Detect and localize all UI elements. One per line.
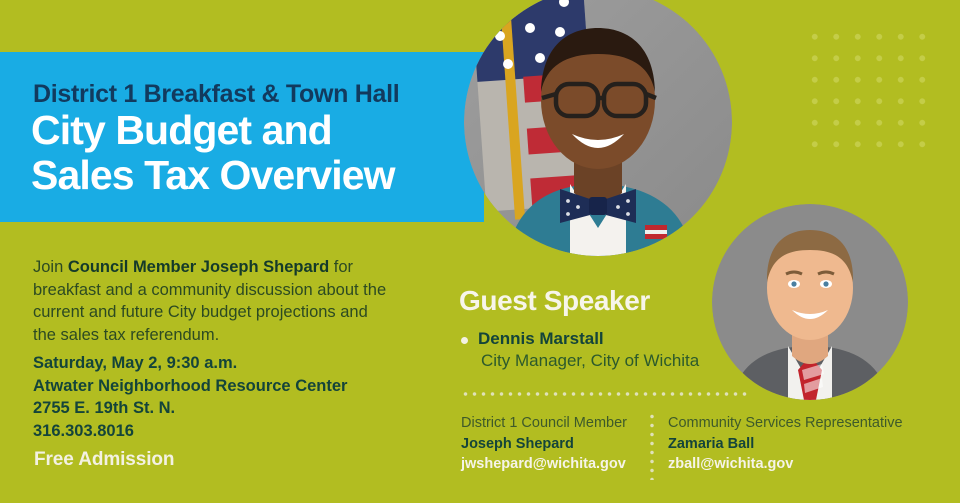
main-portrait-image: [464, 0, 732, 256]
portrait-guest-speaker-graphic: [712, 204, 908, 400]
contact-name: Zamaria Ball: [668, 434, 958, 455]
dotted-divider-vertical: [650, 412, 654, 480]
contact-block-council-member: District 1 Council Member Joseph Shepard…: [461, 413, 646, 475]
portrait-council-member-graphic: [464, 0, 732, 256]
event-phone: 316.303.8016: [33, 420, 423, 443]
headline-line-2: Sales Tax Overview: [31, 153, 501, 198]
guest-speaker-entry: Dennis Marstall City Manager, City of Wi…: [461, 328, 711, 372]
bullet-icon: [461, 337, 468, 344]
admission-note: Free Admission: [34, 449, 174, 471]
guest-portrait-image: [712, 204, 908, 400]
page-title: City Budget and Sales Tax Overview: [31, 108, 501, 198]
intro-lead: Join: [33, 258, 68, 276]
dotted-divider-horizontal: [461, 392, 747, 396]
contact-email[interactable]: zball@wichita.gov: [668, 454, 958, 475]
event-flyer: District 1 Breakfast & Town Hall City Bu…: [0, 0, 960, 503]
guest-speaker-role: City Manager, City of Wichita: [481, 349, 711, 372]
dot-grid-decoration: [800, 22, 940, 154]
eyebrow-text: District 1 Breakfast & Town Hall: [33, 80, 399, 109]
contact-name: Joseph Shepard: [461, 434, 646, 455]
contact-role: Community Services Representative: [668, 413, 958, 434]
contact-email[interactable]: jwshepard@wichita.gov: [461, 454, 646, 475]
headline-line-1: City Budget and: [31, 108, 501, 153]
event-venue: Atwater Neighborhood Resource Center: [33, 375, 423, 398]
event-address: 2755 E. 19th St. N.: [33, 397, 423, 420]
intro-paragraph: Join Council Member Joseph Shepard for b…: [33, 256, 393, 346]
event-datetime: Saturday, May 2, 9:30 a.m.: [33, 352, 423, 375]
guest-speaker-name: Dennis Marstall: [478, 328, 711, 349]
contact-block-community-services: Community Services Representative Zamari…: [668, 413, 958, 475]
event-details: Saturday, May 2, 9:30 a.m. Atwater Neigh…: [33, 352, 423, 442]
guest-speaker-heading: Guest Speaker: [459, 285, 650, 317]
intro-council-member-name: Council Member Joseph Shepard: [68, 258, 329, 276]
contact-role: District 1 Council Member: [461, 413, 646, 434]
